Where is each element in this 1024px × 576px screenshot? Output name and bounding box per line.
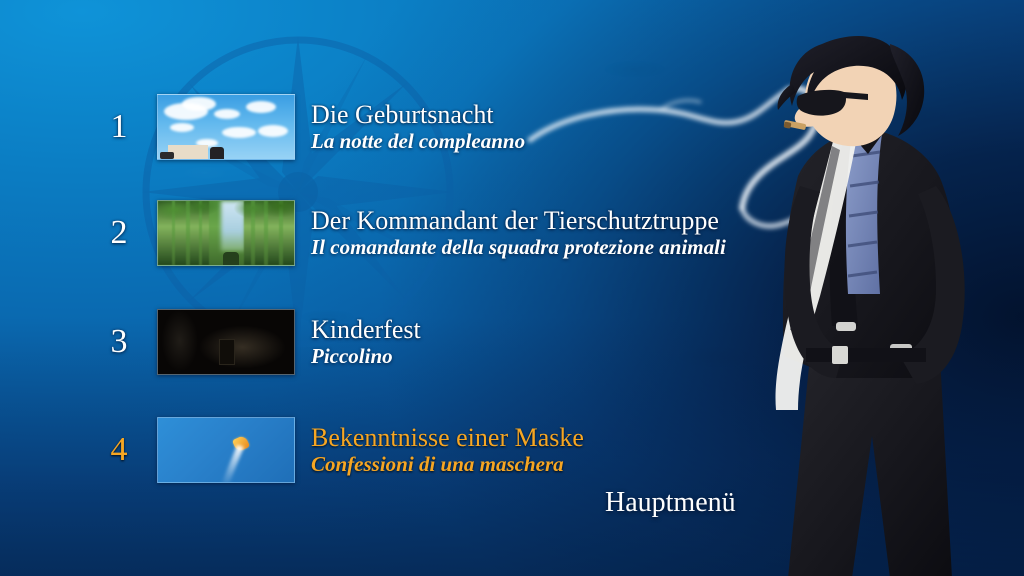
chapter-number-2: 2: [96, 210, 142, 256]
chapter-labels-2: Der Kommandant der Tierschutztruppe Il c…: [311, 207, 726, 259]
chapter-title-it-4: Confessioni di una maschera: [311, 452, 584, 476]
chapter-title-de-4: Bekenntnisse einer Maske: [311, 424, 584, 451]
chapter-number-3: 3: [96, 319, 142, 365]
chapter-item-1[interactable]: 1 Die Geburtsnacht La notte del complean…: [96, 90, 816, 164]
chapter-title-de-2: Der Kommandant der Tierschutztruppe: [311, 207, 726, 234]
chapter-number-1: 1: [96, 104, 142, 150]
thumbnail-sky-glider[interactable]: [157, 417, 295, 483]
thumbnail-dark-corridor[interactable]: [157, 309, 295, 375]
chapter-labels-4: Bekenntnisse einer Maske Confessioni di …: [311, 424, 584, 476]
dvd-chapter-menu: 1 Die Geburtsnacht La notte del complean…: [0, 0, 1024, 576]
chapter-item-4[interactable]: 4 Bekenntnisse einer Maske Confessioni d…: [96, 413, 816, 487]
main-menu-button[interactable]: Hauptmenü: [605, 487, 736, 519]
chapter-labels-3: Kinderfest Piccolino: [311, 316, 421, 368]
chapter-labels-1: Die Geburtsnacht La notte del compleanno: [311, 101, 525, 153]
chapter-item-2[interactable]: 2 Der Kommandant der Tierschutztruppe Il…: [96, 196, 816, 270]
chapter-title-de-3: Kinderfest: [311, 316, 421, 343]
chapter-title-it-1: La notte del compleanno: [311, 129, 525, 153]
chapter-item-3[interactable]: 3 Kinderfest Piccolino: [96, 305, 816, 379]
chapter-title-de-1: Die Geburtsnacht: [311, 101, 525, 128]
chapter-title-it-3: Piccolino: [311, 344, 421, 368]
chapter-number-4: 4: [96, 427, 142, 473]
chapter-title-it-2: Il comandante della squadra protezione a…: [311, 235, 726, 259]
thumbnail-tree-avenue[interactable]: [157, 200, 295, 266]
thumbnail-sky-clouds[interactable]: [157, 94, 295, 160]
